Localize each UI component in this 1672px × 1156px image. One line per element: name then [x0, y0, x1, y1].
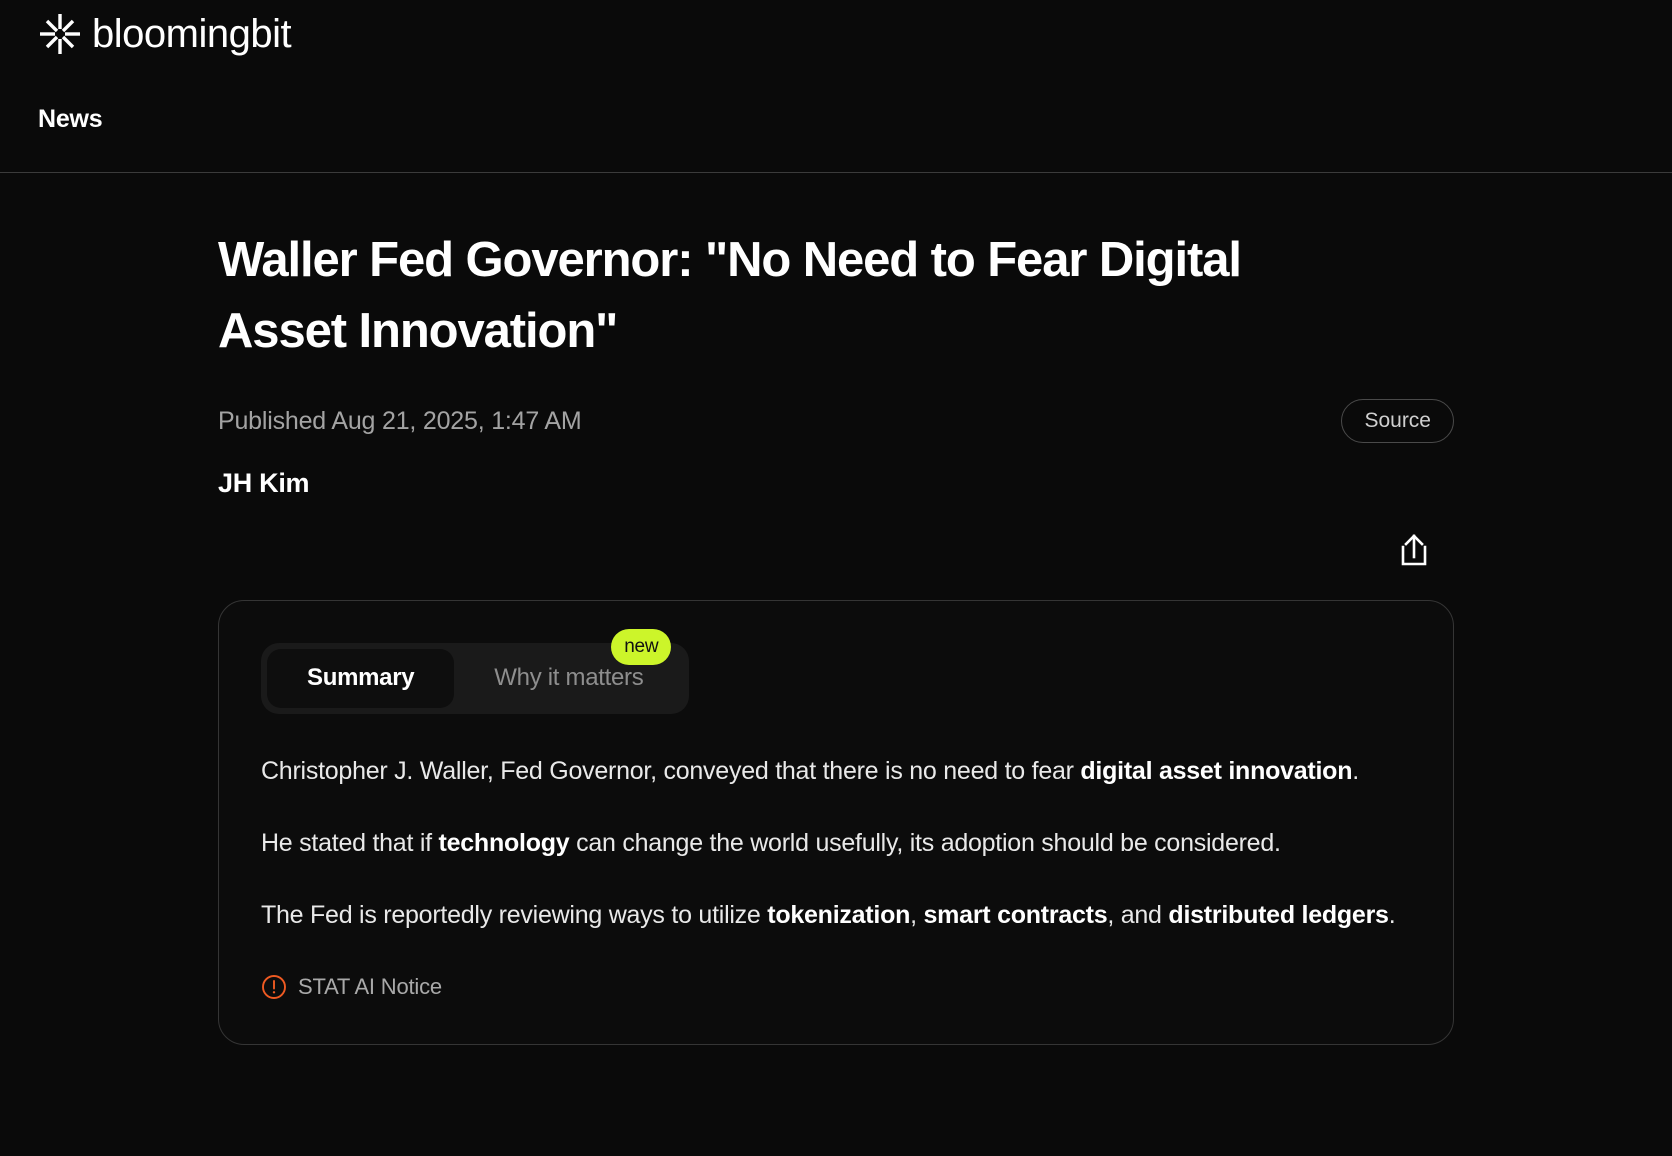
brand-logo[interactable]: bloomingbit: [38, 6, 291, 62]
share-icon: [1397, 532, 1431, 568]
brand-name: bloomingbit: [92, 14, 291, 54]
new-badge: new: [611, 629, 671, 665]
main-nav: News: [38, 105, 103, 134]
summary-paragraph: Christopher J. Waller, Fed Governor, con…: [261, 752, 1411, 790]
article-meta-row: Published Aug 21, 2025, 1:47 AM Source: [218, 398, 1454, 444]
starburst-icon: [38, 12, 82, 56]
article-title: Waller Fed Governor: "No Need to Fear Di…: [218, 225, 1378, 366]
site-header: bloomingbit News: [0, 0, 1672, 173]
share-row: [218, 523, 1454, 577]
article-container: Waller Fed Governor: "No Need to Fear Di…: [196, 173, 1476, 1045]
article-author: JH Kim: [218, 468, 1454, 499]
ai-notice: STAT AI Notice: [261, 974, 1411, 1000]
source-button[interactable]: Source: [1341, 399, 1454, 443]
nav-item-news[interactable]: News: [38, 105, 103, 133]
ai-notice-label: STAT AI Notice: [298, 976, 442, 998]
summary-paragraph: He stated that if technology can change …: [261, 824, 1411, 862]
alert-circle-icon: [261, 974, 287, 1000]
published-timestamp: Published Aug 21, 2025, 1:47 AM: [218, 407, 582, 436]
summary-body: Christopher J. Waller, Fed Governor, con…: [261, 752, 1411, 934]
share-button[interactable]: [1394, 529, 1434, 571]
tab-summary[interactable]: Summary: [267, 649, 454, 708]
tabs-wrapper: Summary Why it matters new: [261, 643, 689, 714]
page-root: bloomingbit News Waller Fed Governor: "N…: [0, 0, 1672, 1156]
summary-paragraph: The Fed is reportedly reviewing ways to …: [261, 896, 1411, 934]
summary-card: Summary Why it matters new Christopher J…: [218, 600, 1454, 1045]
